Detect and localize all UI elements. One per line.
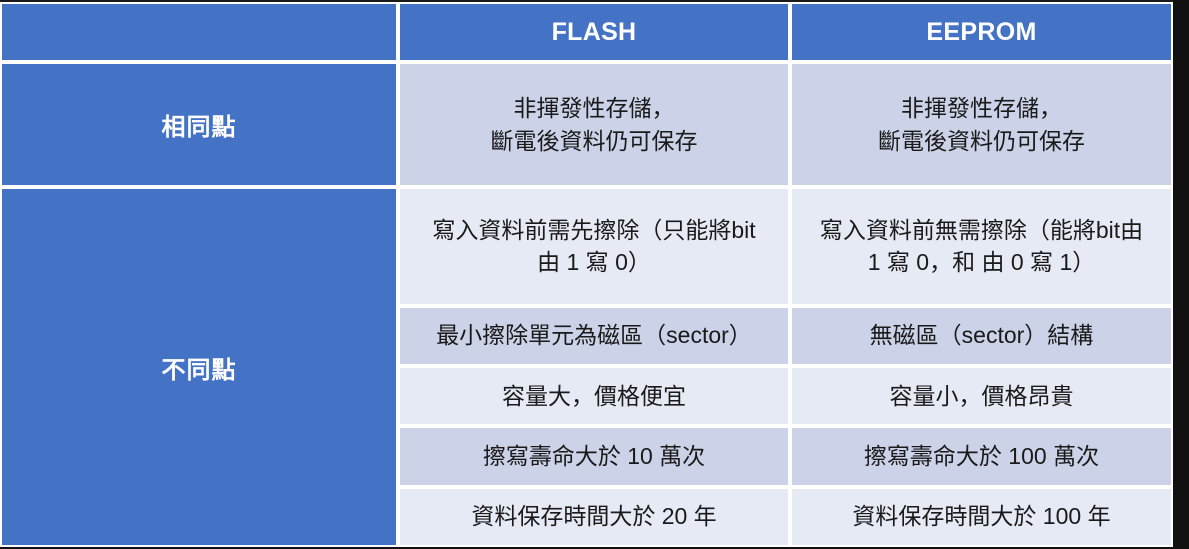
header-cell-eeprom: EEPROM (790, 2, 1173, 62)
cell-text-line: 斷電後資料仍可保存 (410, 125, 778, 158)
cell-text-line: 非揮發性存儲， (802, 92, 1161, 125)
cell-text-line: 擦寫壽命大於 10 萬次 (410, 440, 778, 473)
cell-text-line: 非揮發性存儲， (410, 92, 778, 125)
header-cell-flash: FLASH (398, 2, 790, 62)
cell-text-line: 最小擦除單元為磁區（sector） (410, 319, 778, 352)
cell-text-line: 1 寫 0，和 由 0 寫 1） (802, 246, 1161, 279)
cell-text-line: 寫入資料前無需擦除（能將bit由 (802, 214, 1161, 247)
cell-flash-erase-unit: 最小擦除單元為磁區（sector） (398, 306, 790, 366)
cell-text-line: 無磁區（sector）結構 (802, 319, 1161, 352)
cell-eeprom-endurance: 擦寫壽命大於 100 萬次 (790, 426, 1173, 486)
cell-flash-endurance: 擦寫壽命大於 10 萬次 (398, 426, 790, 486)
cell-text-line: 由 1 寫 0） (410, 246, 778, 279)
cell-flash-capacity-price: 容量大，價格便宜 (398, 366, 790, 426)
group-label-similarities: 相同點 (0, 62, 398, 187)
cell-eeprom-retention: 資料保存時間大於 100 年 (790, 487, 1173, 547)
group-label-differences: 不同點 (0, 187, 398, 547)
cell-flash-erase-requirement: 寫入資料前需先擦除（只能將bit 由 1 寫 0） (398, 187, 790, 306)
cell-text-line: 資料保存時間大於 100 年 (802, 500, 1161, 533)
cell-eeprom-similarity: 非揮發性存儲， 斷電後資料仍可保存 (790, 62, 1173, 187)
table-row: 相同點 非揮發性存儲， 斷電後資料仍可保存 非揮發性存儲， 斷電後資料仍可保存 (0, 62, 1173, 187)
table-row: 不同點 寫入資料前需先擦除（只能將bit 由 1 寫 0） 寫入資料前無需擦除（… (0, 187, 1173, 306)
cell-text-line: 容量小，價格昂貴 (802, 380, 1161, 413)
cell-eeprom-erase-unit: 無磁區（sector）結構 (790, 306, 1173, 366)
cell-text-line: 斷電後資料仍可保存 (802, 125, 1161, 158)
cell-flash-similarity: 非揮發性存儲， 斷電後資料仍可保存 (398, 62, 790, 187)
cell-text-line: 寫入資料前需先擦除（只能將bit (410, 214, 778, 247)
cell-text-line: 容量大，價格便宜 (410, 380, 778, 413)
table-header-row: FLASH EEPROM (0, 2, 1173, 62)
header-cell-category (0, 2, 398, 62)
cell-eeprom-erase-requirement: 寫入資料前無需擦除（能將bit由 1 寫 0，和 由 0 寫 1） (790, 187, 1173, 306)
comparison-table-container: FLASH EEPROM 相同點 非揮發性存儲， 斷電後資料仍可保存 非揮發性存… (0, 0, 1189, 549)
table-right-border (1173, 0, 1189, 549)
flash-vs-eeprom-table: FLASH EEPROM 相同點 非揮發性存儲， 斷電後資料仍可保存 非揮發性存… (0, 2, 1173, 547)
cell-eeprom-capacity-price: 容量小，價格昂貴 (790, 366, 1173, 426)
cell-text-line: 資料保存時間大於 20 年 (410, 500, 778, 533)
cell-flash-retention: 資料保存時間大於 20 年 (398, 487, 790, 547)
cell-text-line: 擦寫壽命大於 100 萬次 (802, 440, 1161, 473)
